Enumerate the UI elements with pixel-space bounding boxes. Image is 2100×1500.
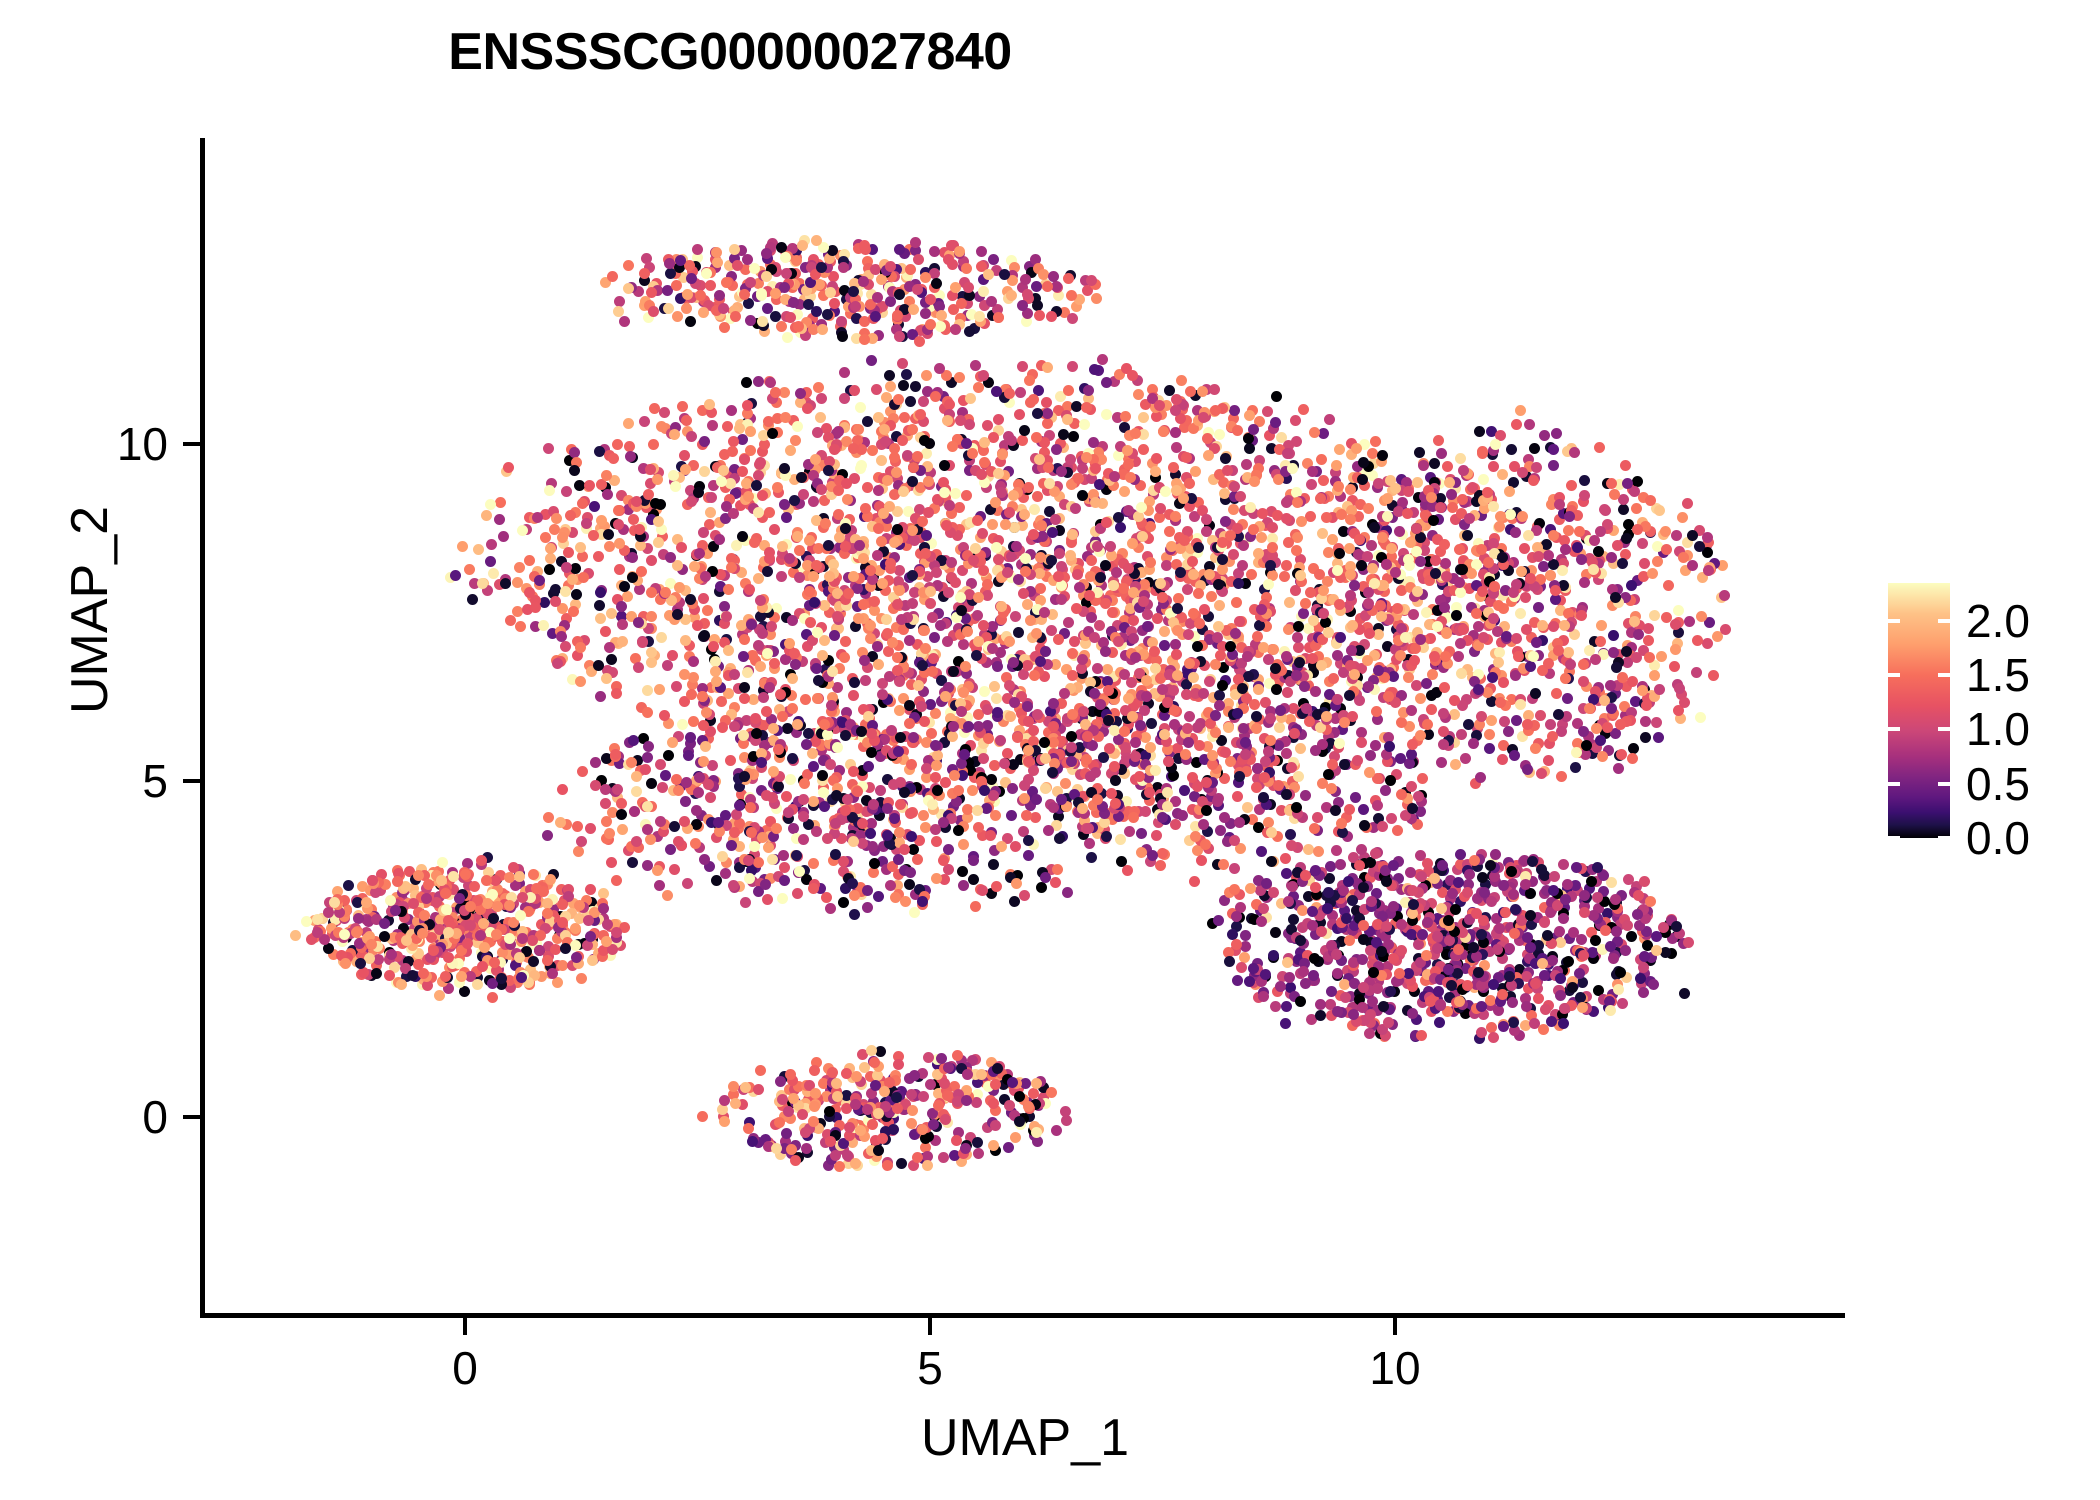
scatter-point [873, 523, 884, 534]
scatter-point [840, 636, 851, 647]
scatter-point [1172, 603, 1183, 614]
scatter-point [614, 538, 625, 549]
scatter-point [976, 469, 987, 480]
scatter-point [1164, 526, 1175, 537]
scatter-point [1108, 580, 1119, 591]
scatter-point [837, 331, 848, 342]
scatter-point [527, 935, 538, 946]
scatter-point [1476, 1027, 1487, 1038]
scatter-point [907, 1105, 918, 1116]
scatter-point [1334, 444, 1345, 455]
scatter-point [808, 571, 819, 582]
scatter-point [785, 312, 796, 323]
scatter-point [544, 564, 555, 575]
scatter-point [769, 524, 780, 535]
scatter-point [730, 311, 741, 322]
scatter-point [1281, 868, 1292, 879]
scatter-point [833, 426, 844, 437]
scatter-point [952, 1050, 963, 1061]
scatter-point [545, 553, 556, 564]
scatter-point [603, 529, 614, 540]
scatter-point [708, 641, 719, 652]
scatter-point [1554, 926, 1565, 937]
scatter-point [1063, 273, 1074, 284]
scatter-point [891, 1092, 902, 1103]
scatter-point [1300, 978, 1311, 989]
scatter-point [1478, 915, 1489, 926]
scatter-point [646, 555, 657, 566]
scatter-point [1178, 493, 1189, 504]
scatter-point [941, 520, 952, 531]
scatter-point [859, 334, 870, 345]
scatter-point [1010, 1132, 1021, 1143]
scatter-point [1578, 950, 1589, 961]
scatter-point [1558, 1018, 1569, 1029]
scatter-point [1645, 896, 1656, 907]
scatter-point [853, 613, 864, 624]
scatter-point [1287, 463, 1298, 474]
scatter-point [1515, 608, 1526, 619]
scatter-point [639, 268, 650, 279]
scatter-point [1429, 873, 1440, 884]
scatter-point [1060, 1106, 1071, 1117]
scatter-point [1176, 375, 1187, 386]
scatter-point [958, 687, 969, 698]
scatter-point [1138, 596, 1149, 607]
scatter-point [869, 596, 880, 607]
scatter-point [1253, 548, 1264, 559]
scatter-point [1494, 923, 1505, 934]
scatter-point [832, 682, 843, 693]
scatter-point [1504, 971, 1515, 982]
scatter-point [990, 1079, 1001, 1090]
scatter-point [972, 515, 983, 526]
scatter-point [922, 1160, 933, 1171]
scatter-point [552, 977, 563, 988]
scatter-point [790, 659, 801, 670]
page-title: ENSSSCG00000027840 [0, 22, 1460, 82]
scatter-point [1051, 444, 1062, 455]
scatter-point [973, 592, 984, 603]
scatter-point [745, 277, 756, 288]
scatter-point [1019, 509, 1030, 520]
scatter-point [462, 938, 473, 949]
scatter-point [396, 979, 407, 990]
scatter-point [642, 685, 653, 696]
scatter-point [929, 632, 940, 643]
scatter-point [979, 437, 990, 448]
scatter-point [634, 524, 645, 535]
scatter-point [544, 485, 555, 496]
scatter-point [913, 254, 924, 265]
scatter-point [753, 1084, 764, 1095]
scatter-point [962, 1069, 973, 1080]
scatter-point [777, 711, 788, 722]
scatter-point [892, 665, 903, 676]
scatter-point [792, 421, 803, 432]
scatter-point [1308, 615, 1319, 626]
scatter-point [1367, 996, 1378, 1007]
scatter-point [576, 973, 587, 984]
scatter-point [685, 316, 696, 327]
scatter-point [653, 516, 664, 527]
scatter-point [853, 424, 864, 435]
scatter-point [1315, 1010, 1326, 1021]
scatter-point [1118, 583, 1129, 594]
scatter-point [557, 917, 568, 928]
scatter-point [633, 662, 644, 673]
scatter-point [574, 900, 585, 911]
scatter-point [840, 541, 851, 552]
scatter-point [1309, 427, 1320, 438]
scatter-point [734, 423, 745, 434]
scatter-point [930, 391, 941, 402]
scatter-point [1032, 491, 1043, 502]
scatter-point [639, 416, 650, 427]
scatter-point [1228, 549, 1239, 560]
scatter-point [976, 246, 987, 257]
scatter-point [1214, 600, 1225, 611]
scatter-point [1097, 354, 1108, 365]
scatter-point [943, 587, 954, 598]
scatter-point [825, 287, 836, 298]
scatter-point [912, 284, 923, 295]
scatter-point [788, 297, 799, 308]
scatter-point [892, 1103, 903, 1114]
scatter-point [894, 585, 905, 596]
scatter-point [1366, 896, 1377, 907]
scatter-point [829, 444, 840, 455]
scatter-point [996, 601, 1007, 612]
scatter-point [1683, 937, 1694, 948]
scatter-point [379, 918, 390, 929]
scatter-point [1310, 686, 1321, 697]
scatter-point [738, 651, 749, 662]
scatter-point [954, 502, 965, 513]
scatter-point [627, 552, 638, 563]
scatter-point [873, 659, 884, 670]
scatter-point [1231, 597, 1242, 608]
scatter-point [790, 435, 801, 446]
scatter-point [1521, 1001, 1532, 1012]
scatter-point [1137, 531, 1148, 542]
umap-feature-plot: ENSSSCG00000027840 0510 0510 UMAP_1 UMAP… [0, 0, 2100, 1500]
scatter-point [978, 286, 989, 297]
scatter-point [955, 592, 966, 603]
scatter-point [1702, 638, 1713, 649]
scatter-point [739, 682, 750, 693]
scatter-point [1237, 560, 1248, 571]
scatter-point [794, 572, 805, 583]
scatter-point [1388, 860, 1399, 871]
scatter-point [636, 566, 647, 577]
scatter-point [947, 731, 958, 742]
scatter-point [920, 643, 931, 654]
scatter-point [679, 450, 690, 461]
scatter-point [581, 518, 592, 529]
scatter-point [571, 952, 582, 963]
scatter-point [716, 696, 727, 707]
scatter-point [977, 528, 988, 539]
scatter-point [741, 377, 752, 388]
scatter-point [1014, 1091, 1025, 1102]
scatter-point [1090, 463, 1101, 474]
scatter-point [1053, 571, 1064, 582]
scatter-point [1290, 585, 1301, 596]
scatter-point [481, 510, 492, 521]
scatter-point [891, 467, 902, 478]
scatter-point [1469, 855, 1480, 866]
scatter-point [1548, 885, 1559, 896]
scatter-point [1281, 1001, 1292, 1012]
scatter-point [1317, 528, 1328, 539]
scatter-point [1024, 375, 1035, 386]
scatter-point [987, 643, 998, 654]
scatter-point [764, 682, 775, 693]
scatter-point [1249, 476, 1260, 487]
scatter-point [487, 992, 498, 1003]
scatter-point [454, 893, 465, 904]
scatter-point [669, 429, 680, 440]
scatter-point [1236, 962, 1247, 973]
scatter-point [1120, 411, 1131, 422]
scatter-point [1119, 486, 1130, 497]
scatter-point [1510, 904, 1521, 915]
scatter-point [775, 689, 786, 700]
scatter-point [928, 653, 939, 664]
scatter-point [1022, 599, 1033, 610]
scatter-point [1166, 541, 1177, 552]
scatter-point [1335, 632, 1346, 643]
scatter-point [830, 1150, 841, 1161]
scatter-point [1204, 676, 1215, 687]
scatter-point [552, 658, 563, 669]
scatter-point [800, 1127, 811, 1138]
scatter-point [485, 499, 496, 510]
scatter-point [607, 271, 618, 282]
scatter-point [929, 246, 940, 257]
scatter-point [631, 496, 642, 507]
scatter-point [1168, 685, 1179, 696]
scatter-point [457, 541, 468, 552]
scatter-point [712, 257, 723, 268]
scatter-point [908, 304, 919, 315]
scatter-point [970, 543, 981, 554]
scatter-point [1549, 871, 1560, 882]
scatter-point [776, 571, 787, 582]
scatter-point [528, 869, 539, 880]
scatter-point [1468, 942, 1479, 953]
scatter-point [921, 448, 932, 459]
scatter-point [829, 630, 840, 641]
scatter-point [1412, 477, 1423, 488]
scatter-point [701, 268, 712, 279]
scatter-point [885, 558, 896, 569]
scatter-point [726, 562, 737, 573]
scatter-point [753, 376, 764, 387]
scatter-point [947, 259, 958, 270]
scatter-point [925, 294, 936, 305]
scatter-point [329, 897, 340, 908]
scatter-point [780, 412, 791, 423]
scatter-point [1158, 426, 1169, 437]
scatter-point [1028, 394, 1039, 405]
scatter-point [695, 290, 706, 301]
scatter-point [1536, 864, 1547, 875]
scatter-point [686, 431, 697, 442]
scatter-point [1281, 513, 1292, 524]
scatter-point [1017, 361, 1028, 372]
scatter-point [465, 901, 476, 912]
scatter-point [1031, 432, 1042, 443]
scatter-point [1651, 931, 1662, 942]
scatter-point [1224, 956, 1235, 967]
scatter-point [351, 927, 362, 938]
scatter-point [1262, 406, 1273, 417]
scatter-point [1019, 425, 1030, 436]
scatter-point [784, 553, 795, 564]
scatter-point [1182, 584, 1193, 595]
scatter-point [858, 599, 869, 610]
scatter-point [873, 412, 884, 423]
scatter-point [1332, 650, 1343, 661]
scatter-point [816, 393, 827, 404]
scatter-point [909, 1070, 920, 1081]
scatter-point [1152, 613, 1163, 624]
scatter-point [1332, 1006, 1343, 1017]
scatter-point [1056, 594, 1067, 605]
scatter-point [514, 562, 525, 573]
scatter-point [946, 572, 957, 583]
scatter-point [1408, 609, 1419, 620]
scatter-point [464, 564, 475, 575]
scatter-point [1041, 397, 1052, 408]
scatter-point [935, 620, 946, 631]
scatter-point [428, 945, 439, 956]
scatter-point [942, 415, 953, 426]
scatter-point [528, 956, 539, 967]
scatter-point [1364, 1028, 1375, 1039]
scatter-point [1358, 982, 1369, 993]
scatter-point [1040, 646, 1051, 657]
scatter-point [1091, 293, 1102, 304]
scatter-point [744, 584, 755, 595]
scatter-point [719, 1116, 730, 1127]
scatter-point [1292, 497, 1303, 508]
scatter-point [882, 1160, 893, 1171]
scatter-point [1575, 992, 1586, 1003]
scatter-point [1206, 591, 1217, 602]
scatter-point [1007, 1077, 1018, 1088]
scatter-point [570, 940, 581, 951]
scatter-point [1651, 945, 1662, 956]
scatter-point [1486, 896, 1497, 907]
scatter-point [1267, 522, 1278, 533]
scatter-point [1248, 424, 1259, 435]
scatter-point [1170, 427, 1181, 438]
scatter-point [800, 694, 811, 705]
scatter-point [1209, 384, 1220, 395]
scatter-point [954, 246, 965, 257]
scatter-point [476, 855, 487, 866]
scatter-point [1331, 949, 1342, 960]
scatter-point [672, 311, 683, 322]
scatter-point [762, 566, 773, 577]
scatter-point [1056, 580, 1067, 591]
scatter-point [1008, 490, 1019, 501]
scatter-point [1245, 502, 1256, 513]
scatter-point [503, 462, 514, 473]
scatter-point [665, 552, 676, 563]
scatter-point [542, 908, 553, 919]
scatter-point [1015, 387, 1026, 398]
scatter-point [1065, 454, 1076, 465]
scatter-point [659, 407, 670, 418]
scatter-point [921, 370, 932, 381]
scatter-point [606, 654, 617, 665]
scatter-point [885, 261, 896, 272]
scatter-point [844, 1122, 855, 1133]
scatter-point [1032, 1136, 1043, 1147]
scatter-point [1217, 537, 1228, 548]
scatter-point [706, 492, 717, 503]
scatter-point [1203, 450, 1214, 461]
scatter-point [584, 480, 595, 491]
scatter-point [290, 930, 301, 941]
scatter-point [1281, 560, 1292, 571]
scatter-point [1283, 896, 1294, 907]
scatter-point [1281, 497, 1292, 508]
scatter-point [1305, 587, 1316, 598]
scatter-point [875, 1046, 886, 1057]
scatter-point [753, 507, 764, 518]
scatter-point [623, 260, 634, 271]
scatter-point [897, 358, 908, 369]
scatter-point [408, 898, 419, 909]
scatter-point [1422, 858, 1433, 869]
scatter-point [1107, 607, 1118, 618]
scatter-point [797, 240, 808, 251]
scatter-point [1433, 986, 1444, 997]
scatter-point [811, 306, 822, 317]
scatter-point [843, 588, 854, 599]
scatter-point [1138, 444, 1149, 455]
scatter-point [1065, 550, 1076, 561]
scatter-point [1547, 955, 1558, 966]
scatter-point [972, 1137, 983, 1148]
scatter-point [1187, 556, 1198, 567]
scatter-point [602, 489, 613, 500]
scatter-point [1293, 621, 1304, 632]
scatter-point [1022, 289, 1033, 300]
scatter-point [1003, 1142, 1014, 1153]
scatter-point [517, 933, 528, 944]
scatter-point [665, 268, 676, 279]
scatter-point [726, 405, 737, 416]
scatter-point [1618, 504, 1629, 515]
scatter-point [1307, 906, 1318, 917]
scatter-point [1292, 632, 1303, 643]
scatter-point [839, 393, 850, 404]
scatter-point [1234, 616, 1245, 627]
scatter-point [1522, 932, 1533, 943]
scatter-point [921, 530, 932, 541]
scatter-point [867, 1119, 878, 1130]
scatter-point [491, 929, 502, 940]
scatter-point [469, 881, 480, 892]
scatter-point [1258, 903, 1269, 914]
scatter-point [796, 472, 807, 483]
